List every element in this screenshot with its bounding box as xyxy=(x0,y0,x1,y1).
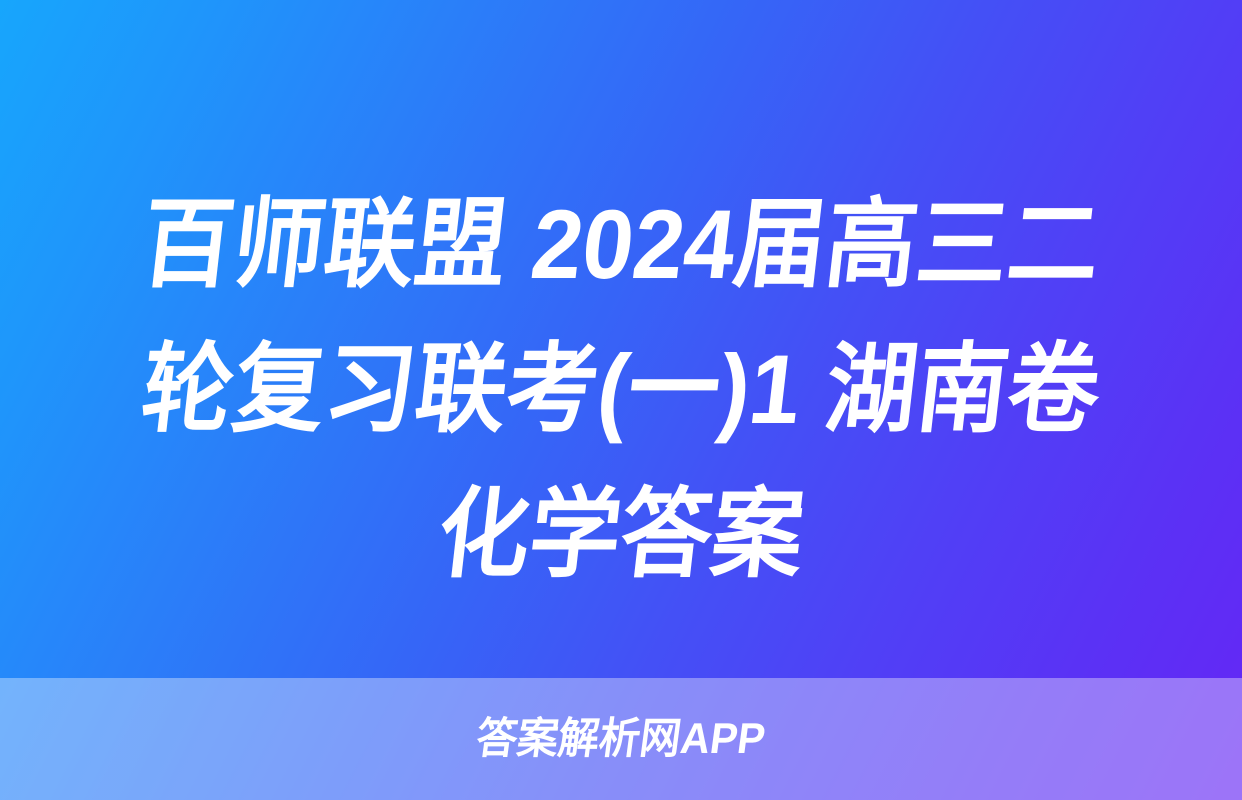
title-line-2: 轮复习联考(一)1 湖南卷 xyxy=(72,317,1169,462)
poster-canvas: 百师联盟 2024届高三二 轮复习联考(一)1 湖南卷 化学答案 答案解析网AP… xyxy=(0,0,1242,800)
footer-watermark-band: 答案解析网APP xyxy=(0,678,1242,800)
title-line-3: 化学答案 xyxy=(72,462,1169,607)
watermark-text: 答案解析网APP xyxy=(474,718,768,761)
title-line-1: 百师联盟 2024届高三二 xyxy=(72,172,1169,317)
title-block: 百师联盟 2024届高三二 轮复习联考(一)1 湖南卷 化学答案 xyxy=(0,172,1242,622)
